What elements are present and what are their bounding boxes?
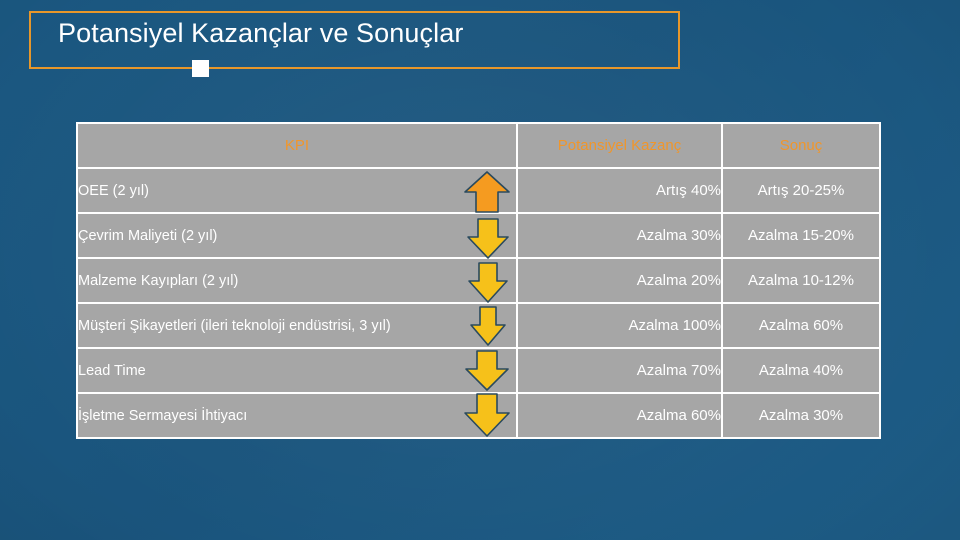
cell-potential-gain: Artış 40% [517,168,722,213]
cell-potential-gain: Azalma 100% [517,303,722,348]
cell-potential-gain: Azalma 70% [517,348,722,393]
cell-result: Azalma 40% [722,348,880,393]
cell-result: Azalma 60% [722,303,880,348]
cell-kpi-label: Çevrim Maliyeti (2 yıl) [77,213,517,258]
cell-potential-gain: Azalma 20% [517,258,722,303]
cell-kpi-label: Müşteri Şikayetleri (ileri teknoloji end… [77,303,517,348]
cell-result: Artış 20-25% [722,168,880,213]
cell-kpi-label: Malzeme Kayıpları (2 yıl) [77,258,517,303]
table-row: Çevrim Maliyeti (2 yıl) Azalma 30% Azalm… [77,213,880,258]
title-frame-bottom-right-segment [209,67,680,69]
table-row: OEE (2 yıl) Artış 40% Artış 20-25% [77,168,880,213]
page-title: Potansiyel Kazançlar ve Sonuçlar [58,18,463,49]
column-header-kpi: KPI [77,123,517,168]
title-frame-bottom-left-segment [29,67,65,69]
kpi-table: KPI Potansiyel Kazanç Sonuç OEE (2 yıl) … [76,122,881,439]
cell-kpi-label: OEE (2 yıl) [77,168,517,213]
cell-kpi-label: Lead Time [77,348,517,393]
table-row: İşletme Sermayesi İhtiyacı Azalma 60% Az… [77,393,880,438]
table-row: Müşteri Şikayetleri (ileri teknoloji end… [77,303,880,348]
cell-result: Azalma 15-20% [722,213,880,258]
table-row: Malzeme Kayıpları (2 yıl) Azalma 20% Aza… [77,258,880,303]
slide: Potansiyel Kazançlar ve Sonuçlar KPI Pot… [0,0,960,540]
cell-result: Azalma 10-12% [722,258,880,303]
table-header-row: KPI Potansiyel Kazanç Sonuç [77,123,880,168]
column-header-result: Sonuç [722,123,880,168]
cell-result: Azalma 30% [722,393,880,438]
table-row: Lead Time Azalma 70% Azalma 40% [77,348,880,393]
column-header-potential-gain: Potansiyel Kazanç [517,123,722,168]
cell-potential-gain: Azalma 30% [517,213,722,258]
title-accent-square [192,60,209,77]
cell-kpi-label: İşletme Sermayesi İhtiyacı [77,393,517,438]
cell-potential-gain: Azalma 60% [517,393,722,438]
